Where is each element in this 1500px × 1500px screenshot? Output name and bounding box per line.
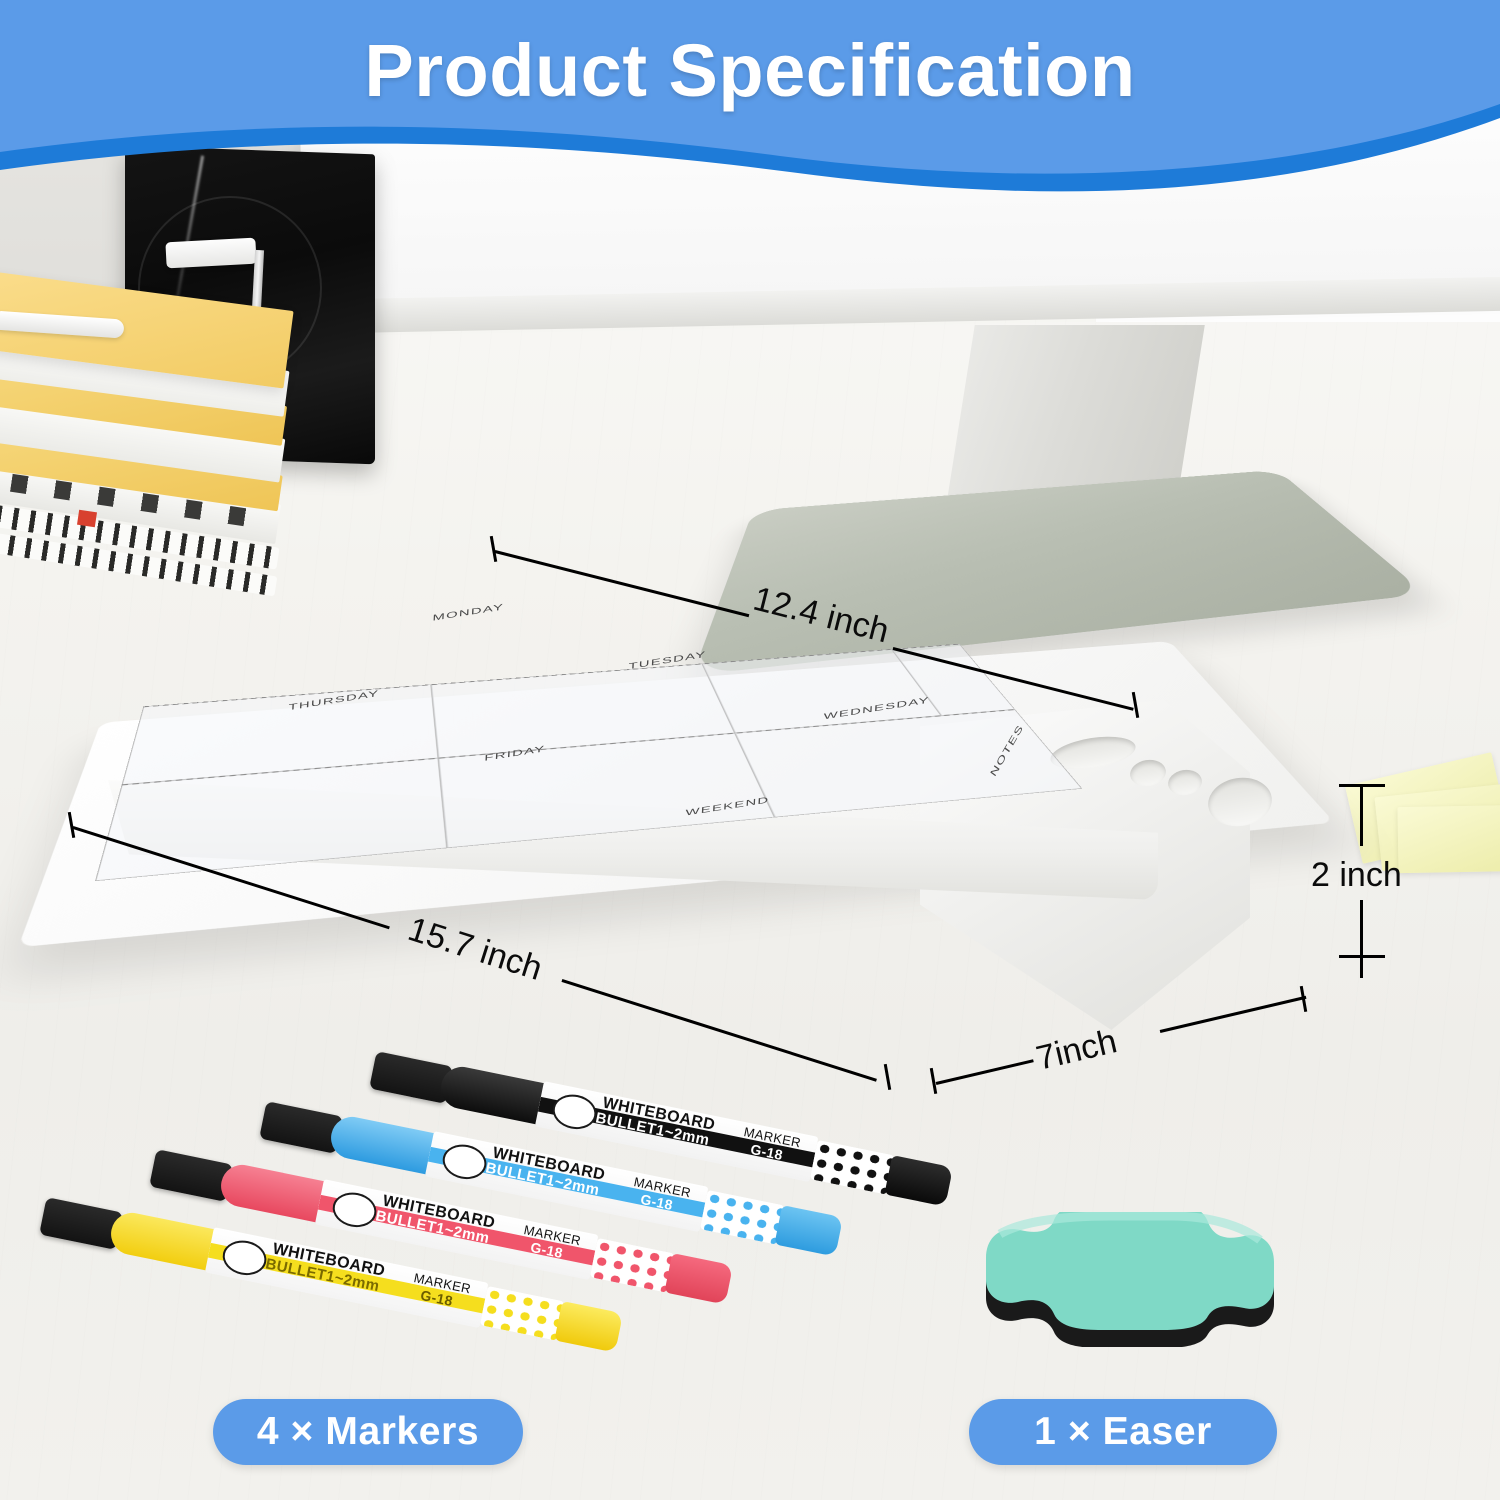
page-title: Product Specification bbox=[0, 28, 1500, 113]
product-specification-image: MONDAY TUESDAY WEDNESDAY NOTES THURSDAY … bbox=[0, 0, 1500, 1500]
marker-nib-icon bbox=[440, 1141, 490, 1183]
dimension-label-height: 2 inch bbox=[1311, 856, 1402, 895]
notebook-red-tab bbox=[77, 510, 97, 527]
monitor-screen bbox=[300, 96, 1500, 310]
dim-line-lower bbox=[1360, 900, 1363, 978]
dim-line-upper bbox=[1360, 786, 1363, 846]
badge-markers-count: 4 × Markers bbox=[213, 1399, 523, 1465]
marker-nib-icon bbox=[550, 1091, 600, 1133]
badge-markers-label: 4 × Markers bbox=[257, 1410, 479, 1454]
marker-nib-icon bbox=[220, 1237, 270, 1279]
dim-cap-bottom bbox=[1339, 955, 1385, 958]
marble-white-tab bbox=[165, 238, 256, 269]
sticky-note bbox=[1397, 805, 1500, 873]
badge-eraser-label: 1 × Easer bbox=[1034, 1410, 1212, 1454]
whiteboard-eraser bbox=[980, 1212, 1280, 1347]
badge-eraser-count: 1 × Easer bbox=[969, 1399, 1277, 1465]
marker-nib-icon bbox=[330, 1189, 380, 1231]
